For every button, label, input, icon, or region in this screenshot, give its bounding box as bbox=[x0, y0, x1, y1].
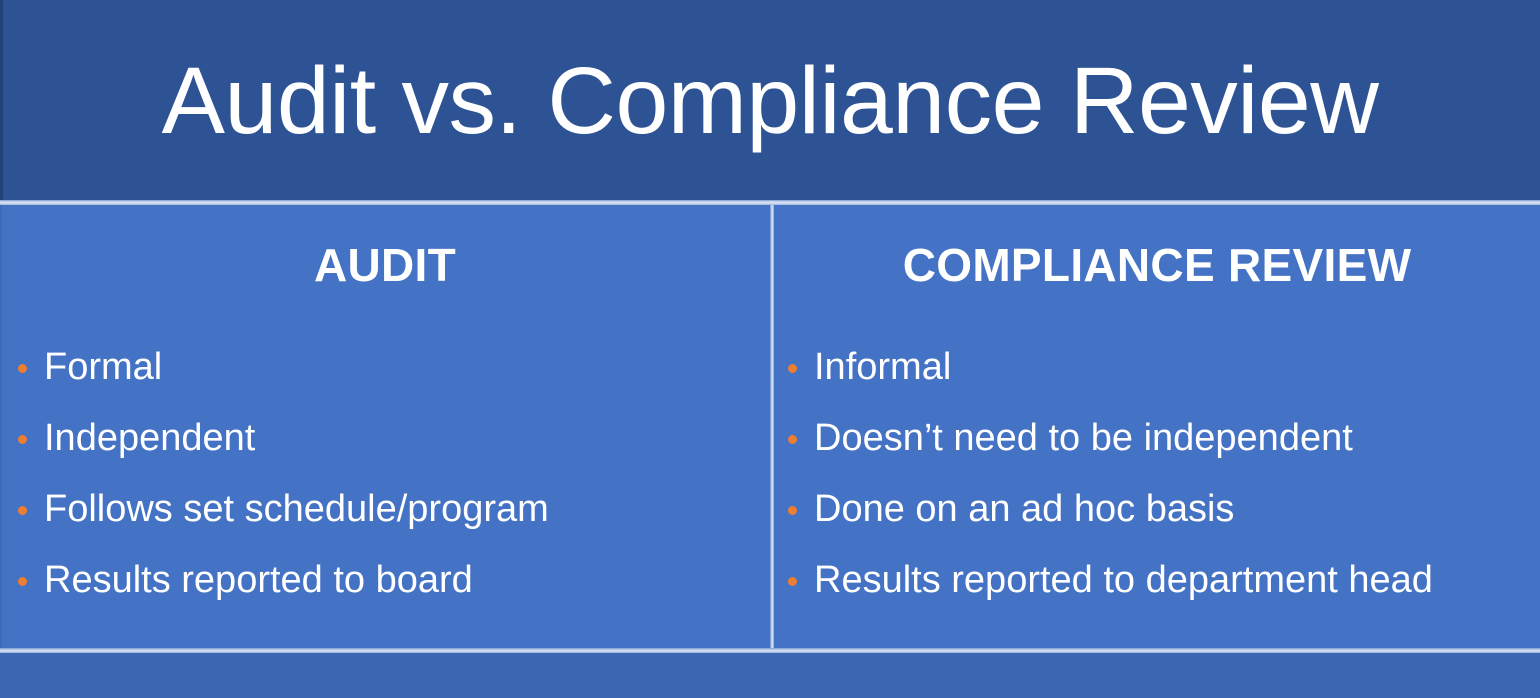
bullet-dot-icon bbox=[18, 577, 27, 586]
list-item-label: Results reported to department head bbox=[814, 559, 1433, 601]
column-divider bbox=[770, 205, 774, 651]
list-item: Doesn’t need to be independent bbox=[786, 403, 1540, 474]
bottom-strip bbox=[0, 653, 1540, 698]
bullet-dot-icon bbox=[18, 435, 27, 444]
list-item: Formal bbox=[16, 332, 770, 403]
bullet-dot-icon bbox=[788, 364, 797, 373]
slide-canvas: Audit vs. Compliance Review AUDIT Formal… bbox=[0, 0, 1540, 698]
list-item: Follows set schedule/program bbox=[16, 474, 770, 545]
bullet-list-audit: Formal Independent Follows set schedule/… bbox=[0, 332, 770, 616]
list-item: Independent bbox=[16, 403, 770, 474]
title-banner-left-edge bbox=[0, 0, 3, 200]
bullet-dot-icon bbox=[788, 577, 797, 586]
column-header-audit: AUDIT bbox=[0, 205, 770, 288]
list-item-label: Formal bbox=[44, 346, 162, 388]
bullet-dot-icon bbox=[788, 506, 797, 515]
title-banner: Audit vs. Compliance Review bbox=[0, 0, 1540, 200]
table-left-edge bbox=[0, 205, 2, 651]
bullet-dot-icon bbox=[788, 435, 797, 444]
list-item-label: Done on an ad hoc basis bbox=[814, 488, 1234, 530]
list-item: Results reported to board bbox=[16, 545, 770, 616]
bullet-dot-icon bbox=[18, 506, 27, 515]
column-audit: AUDIT Formal Independent Follows set sch… bbox=[0, 205, 770, 651]
list-item-label: Results reported to board bbox=[44, 559, 473, 601]
list-item: Informal bbox=[786, 332, 1540, 403]
slide-title: Audit vs. Compliance Review bbox=[162, 54, 1379, 149]
list-item: Done on an ad hoc basis bbox=[786, 474, 1540, 545]
column-compliance-review: COMPLIANCE REVIEW Informal Doesn’t need … bbox=[774, 205, 1540, 651]
list-item-label: Informal bbox=[814, 346, 951, 388]
list-item: Results reported to department head bbox=[786, 545, 1540, 616]
list-item-label: Independent bbox=[44, 417, 255, 459]
bullet-list-compliance-review: Informal Doesn’t need to be independent … bbox=[774, 332, 1540, 616]
bullet-dot-icon bbox=[18, 364, 27, 373]
list-item-label: Follows set schedule/program bbox=[44, 488, 549, 530]
list-item-label: Doesn’t need to be independent bbox=[814, 417, 1353, 459]
column-header-compliance-review: COMPLIANCE REVIEW bbox=[774, 205, 1540, 288]
